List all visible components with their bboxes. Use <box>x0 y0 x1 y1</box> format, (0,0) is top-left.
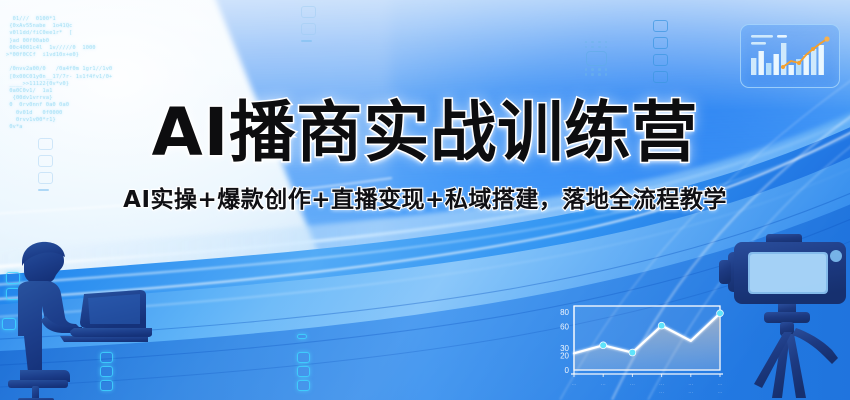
decor-dot-row <box>573 68 619 71</box>
decor-dot-row <box>573 46 619 49</box>
decor-square <box>653 20 668 32</box>
poster-title: AI播商实战训练营 <box>0 96 850 170</box>
svg-text:80: 80 <box>560 308 569 317</box>
decor-bar <box>301 40 312 42</box>
decor-cyan-square <box>297 380 310 391</box>
decor-cyan-square <box>297 352 310 363</box>
headline-block: AI播商实战训练营 AI实操+爆款创作+直播变现+私域搭建，落地全流程教学 <box>0 96 850 214</box>
person-with-laptop-silhouette-icon <box>2 232 152 400</box>
svg-text:30: 30 <box>560 344 569 353</box>
svg-text:···: ··· <box>688 382 693 388</box>
svg-text:···: ··· <box>601 382 606 388</box>
decor-dot-row <box>573 73 619 76</box>
bar-chart-trend-icon <box>740 24 840 88</box>
decor-dot-pad <box>573 38 619 78</box>
svg-text:···: ··· <box>659 390 664 396</box>
decor-square <box>301 6 316 18</box>
line-chart: 020306080··························· <box>548 296 728 396</box>
promo-poster: 01/// 0100*1 {0xAv55nabe 1o41Qc v0l1dd/f… <box>0 0 850 400</box>
decor-square-stack-right-top <box>653 20 668 83</box>
svg-text:···: ··· <box>571 382 576 388</box>
svg-text:0: 0 <box>565 366 570 375</box>
decor-square <box>301 23 316 35</box>
svg-text:···: ··· <box>659 382 664 388</box>
svg-text:···: ··· <box>688 390 693 396</box>
decor-cyan-bar <box>297 334 307 339</box>
decor-square-stack-mid-top <box>301 6 316 42</box>
decor-square <box>653 54 668 66</box>
svg-text:60: 60 <box>560 322 569 331</box>
decor-cyan-square <box>297 366 310 377</box>
decor-dot-row <box>573 41 619 44</box>
decor-square <box>653 37 668 49</box>
svg-text:···: ··· <box>630 382 635 388</box>
camera-tripod-silhouette-icon <box>706 228 850 400</box>
decor-rounded-square <box>586 51 607 66</box>
decor-square <box>653 71 668 83</box>
poster-subtitle: AI实操+爆款创作+直播变现+私域搭建，落地全流程教学 <box>0 180 850 214</box>
